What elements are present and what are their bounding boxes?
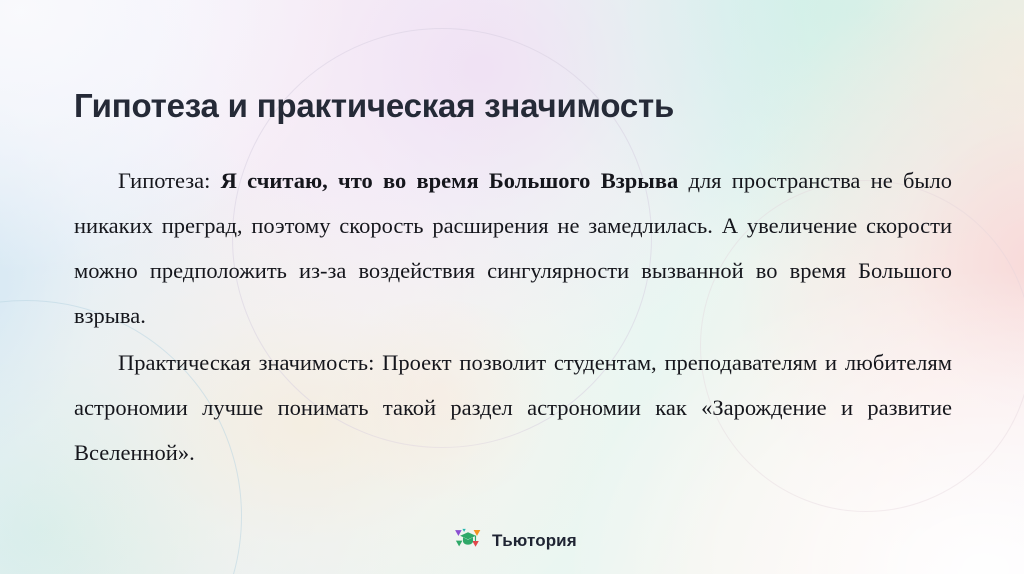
paragraph-hypothesis-lead: Гипотеза:	[118, 168, 221, 193]
paragraph-hypothesis: Гипотеза: Я считаю, что во время Большог…	[74, 158, 952, 338]
presentation-slide: Гипотеза и практическая значимость Гипот…	[0, 0, 1024, 574]
graduation-cap-icon	[453, 527, 483, 555]
paragraph-hypothesis-emphasis: Я считаю, что во время Большого Взрыва	[221, 168, 679, 193]
page-title: Гипотеза и практическая значимость	[74, 86, 954, 126]
slide-body: Гипотеза: Я считаю, что во время Большог…	[74, 158, 952, 475]
slide-content: Гипотеза и практическая значимость Гипот…	[0, 0, 1024, 574]
paragraph-practical-significance: Практическая значимость: Проект позволит…	[74, 340, 952, 475]
brand-logo: Тьютория	[453, 527, 577, 555]
brand-logo-text: Тьютория	[492, 531, 577, 551]
paragraph-practical-significance-lead: Практическая значимость:	[118, 350, 382, 375]
